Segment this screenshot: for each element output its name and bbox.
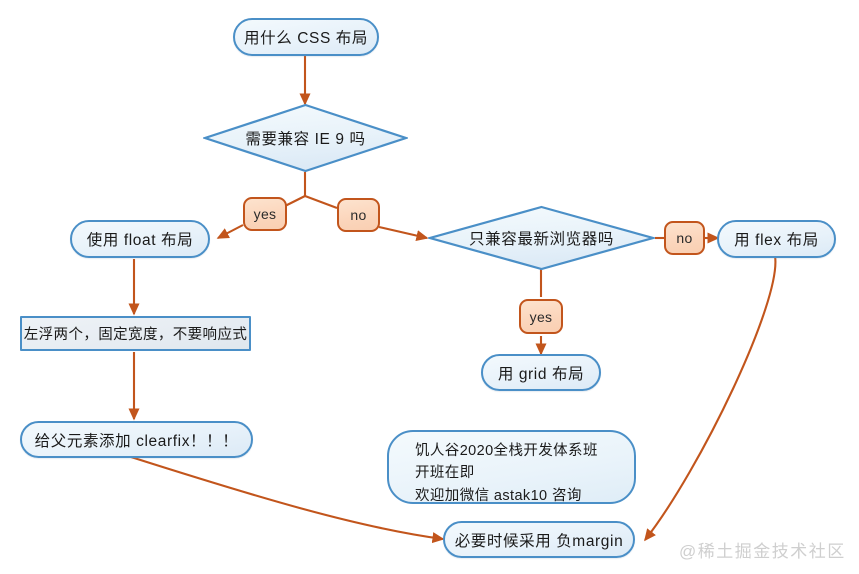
edge-no-to-modern: [379, 227, 427, 238]
edge-label-ie9-yes-text: yes: [254, 206, 277, 222]
edge-yes-to-float: [218, 225, 243, 238]
edge-label-ie9-no[interactable]: no: [337, 198, 380, 232]
node-float-layout-label: 使用 float 布局: [87, 228, 194, 250]
edge-label-modern-no[interactable]: no: [664, 221, 705, 255]
edge-label-modern-yes[interactable]: yes: [519, 299, 563, 334]
node-start[interactable]: 用什么 CSS 布局: [233, 18, 379, 56]
edge-label-ie9-yes[interactable]: yes: [243, 197, 287, 231]
edge-label-ie9-no-text: no: [350, 207, 366, 223]
node-float-layout[interactable]: 使用 float 布局: [70, 220, 210, 258]
node-decision-modern-label: 只兼容最新浏览器吗: [469, 227, 614, 249]
node-float-detail-label: 左浮两个，固定宽度，不要响应式: [24, 323, 248, 344]
promo-line-1: 饥人谷2020全栈开发体系班: [415, 440, 598, 462]
edge-label-modern-yes-text: yes: [530, 309, 553, 325]
node-flex-layout-label: 用 flex 布局: [734, 228, 819, 250]
node-clearfix[interactable]: 给父元素添加 clearfix！！！: [20, 421, 253, 458]
node-negative-margin-label: 必要时候采用 负margin: [455, 529, 624, 551]
node-grid-layout-label: 用 grid 布局: [498, 362, 584, 384]
node-decision-ie9-label: 需要兼容 IE 9 吗: [245, 127, 365, 149]
node-negative-margin[interactable]: 必要时候采用 负margin: [443, 521, 635, 558]
edge-flex-to-margin: [645, 256, 775, 540]
node-decision-modern[interactable]: 只兼容最新浏览器吗: [428, 205, 655, 271]
edge-ie9-to-no: [305, 196, 337, 208]
edge-label-modern-no-text: no: [676, 230, 692, 246]
node-float-detail[interactable]: 左浮两个，固定宽度，不要响应式: [20, 316, 251, 351]
node-decision-ie9[interactable]: 需要兼容 IE 9 吗: [203, 103, 408, 173]
flowchart-canvas: 用什么 CSS 布局 需要兼容 IE 9 吗 yes no 使用 float 布…: [0, 0, 859, 574]
node-start-label: 用什么 CSS 布局: [244, 26, 368, 48]
node-flex-layout[interactable]: 用 flex 布局: [717, 220, 836, 258]
watermark: @稀土掘金技术社区: [679, 537, 846, 562]
node-grid-layout[interactable]: 用 grid 布局: [481, 354, 601, 391]
promo-line-3: 欢迎加微信 astak10 咨询: [415, 485, 582, 507]
node-promo-note[interactable]: 饥人谷2020全栈开发体系班 开班在即 欢迎加微信 astak10 咨询: [387, 430, 636, 504]
node-clearfix-label: 给父元素添加 clearfix！！！: [35, 429, 239, 451]
promo-line-2: 开班在即: [415, 462, 475, 484]
